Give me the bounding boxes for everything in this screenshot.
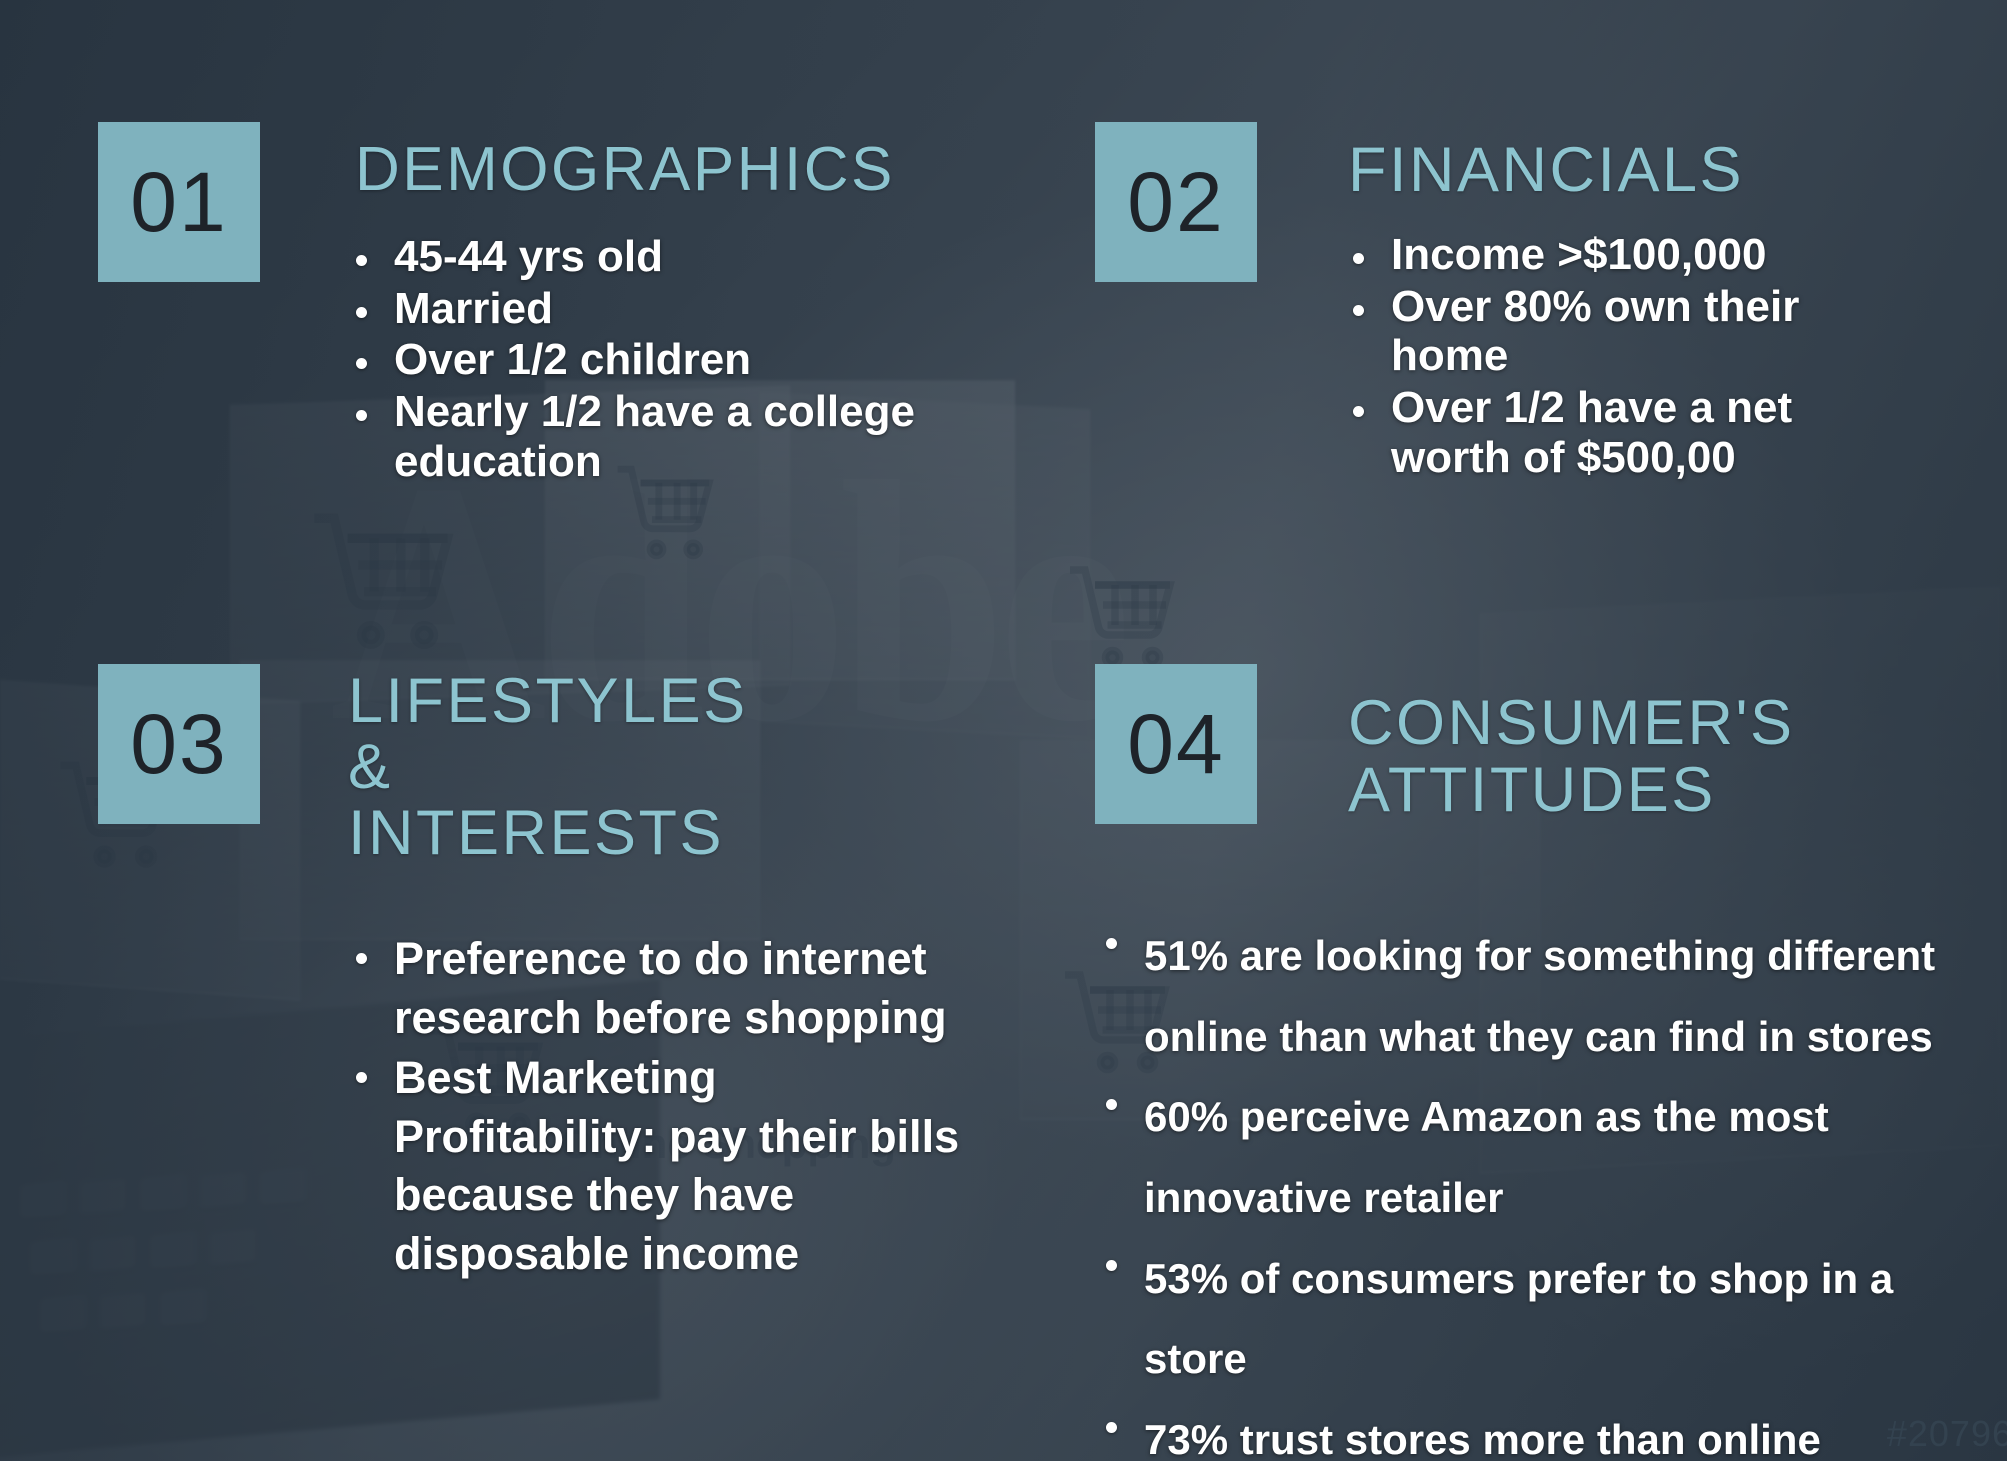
section-number-badge: 03 — [98, 664, 260, 824]
list-item: Preference to do internet research befor… — [348, 930, 988, 1047]
list-item: Nearly 1/2 have a college education — [348, 387, 988, 486]
list-item: 51% are looking for something different … — [1098, 916, 1998, 1077]
section-heading: DEMOGRAPHICS — [355, 138, 895, 201]
bullet-list: 51% are looking for something different … — [1098, 916, 1998, 1461]
section-number-badge: 01 — [98, 122, 260, 282]
list-item: 60% perceive Amazon as the most innovati… — [1098, 1077, 1998, 1238]
list-item: 45-44 yrs old — [348, 232, 988, 282]
list-item: 53% of consumers prefer to shop in a sto… — [1098, 1239, 1998, 1400]
list-item: Married — [348, 284, 988, 334]
image-id-tag: #20796 — [1887, 1413, 2007, 1455]
bullet-list: Preference to do internet research befor… — [348, 930, 988, 1285]
section-heading: CONSUMER'S ATTITUDES — [1348, 690, 1795, 824]
content-layer: 01 DEMOGRAPHICS 45-44 yrs old Married Ov… — [0, 0, 2007, 1461]
list-item: Over 1/2 have a net worth of $500,00 — [1345, 383, 1815, 482]
bullet-list: Income >$100,000 Over 80% own their home… — [1345, 230, 1815, 485]
bullet-list: 45-44 yrs old Married Over 1/2 children … — [348, 232, 988, 489]
infographic-slide: Adobe — [0, 0, 2007, 1461]
list-item: Over 1/2 children — [348, 335, 988, 385]
list-item: Income >$100,000 — [1345, 230, 1815, 280]
list-item: Over 80% own their home — [1345, 282, 1815, 381]
section-number-badge: 04 — [1095, 664, 1257, 824]
list-item: 73% trust stores more than online — [1098, 1400, 1998, 1461]
section-number-badge: 02 — [1095, 122, 1257, 282]
section-heading: LIFESTYLES & INTERESTS — [348, 668, 748, 866]
section-heading: FINANCIALS — [1348, 138, 1744, 202]
list-item: Best Marketing Profitability: pay their … — [348, 1049, 988, 1283]
